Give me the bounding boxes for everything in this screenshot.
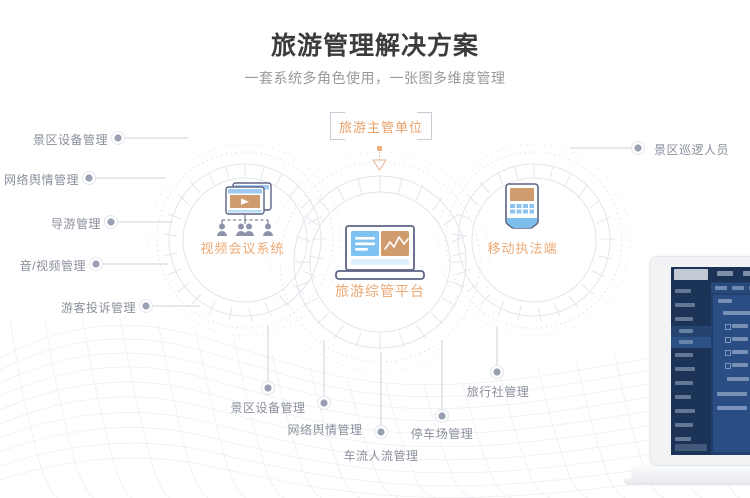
dashboard-checkbox-icon bbox=[725, 363, 731, 369]
dashboard-sidebar bbox=[671, 282, 711, 455]
laptop-screen bbox=[671, 267, 750, 455]
dashboard-tree-row bbox=[732, 337, 748, 341]
laptop-base-edge bbox=[624, 478, 750, 485]
dashboard-sidebar-item bbox=[675, 317, 693, 321]
label-audio-video-management[interactable]: 音/视频管理 bbox=[0, 257, 86, 274]
dashboard-tree-panel bbox=[713, 295, 750, 452]
dashboard-logo bbox=[674, 269, 708, 280]
dashboard-checkbox-icon bbox=[725, 350, 731, 356]
dashboard-sidebar-item bbox=[679, 340, 693, 344]
laptop-lid bbox=[650, 256, 750, 466]
dashboard-filter-chip bbox=[715, 286, 727, 290]
label-bottom-scenic-device-management[interactable]: 景区设备管理 bbox=[208, 399, 328, 416]
dashboard-checkbox-icon bbox=[725, 324, 731, 330]
dashboard-tree-row bbox=[717, 406, 747, 410]
label-traffic-flow-management[interactable]: 车流人流管理 bbox=[321, 447, 441, 464]
dashboard-tree-row bbox=[718, 299, 732, 303]
dashboard-nav-item bbox=[743, 271, 750, 276]
dashboard-sidebar-item bbox=[679, 329, 693, 333]
dashboard-sidebar-footer bbox=[675, 444, 707, 451]
corner-bracket-icon bbox=[330, 125, 345, 140]
dashboard-sidebar-item bbox=[675, 423, 693, 427]
authority-label: 旅游主管单位 bbox=[339, 117, 423, 136]
label-travel-agency-management[interactable]: 旅行社管理 bbox=[445, 383, 551, 400]
dashboard-tree-row bbox=[732, 363, 748, 367]
dashboard-tree-row bbox=[732, 350, 748, 354]
dashboard-sidebar-item bbox=[675, 395, 691, 399]
label-network-opinion-management[interactable]: 网络舆情管理 bbox=[0, 171, 79, 188]
dashboard-sidebar-item bbox=[675, 367, 695, 371]
dashboard-sidebar-item bbox=[675, 289, 691, 293]
label-scenic-device-management[interactable]: 景区设备管理 bbox=[0, 131, 108, 148]
dashboard-sidebar-item bbox=[675, 409, 695, 413]
dashboard-sidebar-item bbox=[675, 437, 691, 441]
video-conference-icon[interactable] bbox=[208, 180, 282, 243]
label-tourist-complaint-management[interactable]: 游客投诉管理 bbox=[0, 299, 136, 316]
dashboard-filter-chip bbox=[732, 286, 744, 290]
label-parking-management[interactable]: 停车场管理 bbox=[389, 425, 495, 442]
mobile-enforcement-icon[interactable] bbox=[496, 180, 548, 243]
dashboard-nav-item bbox=[717, 271, 733, 276]
poster-canvas: 旅游管理解决方案 一套系统多角色使用，一张图多维度管理 bbox=[0, 0, 750, 498]
platform-caption: 旅游综管平台 bbox=[310, 281, 450, 301]
video-conference-caption: 视频会议系统 bbox=[175, 238, 310, 257]
dashboard-checkbox-icon bbox=[725, 337, 731, 343]
corner-bracket-icon bbox=[417, 125, 432, 140]
dashboard-mock bbox=[671, 267, 750, 455]
label-bottom-network-opinion-management[interactable]: 网络舆情管理 bbox=[265, 421, 385, 438]
dashboard-sidebar-item bbox=[675, 381, 693, 385]
admin-dashboard-preview bbox=[640, 256, 750, 498]
mobile-enforcement-caption: 移动执法端 bbox=[455, 238, 590, 257]
dashboard-tree-row bbox=[732, 324, 748, 328]
label-tour-guide-management[interactable]: 导游管理 bbox=[0, 215, 101, 232]
dashboard-sidebar-item bbox=[675, 353, 693, 357]
dashboard-sidebar-item bbox=[675, 303, 695, 307]
page-title: 旅游管理解决方案 bbox=[0, 26, 750, 62]
dashboard-tree-row bbox=[723, 311, 750, 315]
label-scenic-patrol-staff[interactable]: 景区巡逻人员 bbox=[654, 141, 729, 158]
page-subtitle: 一套系统多角色使用，一张图多维度管理 bbox=[0, 68, 750, 88]
authority-box[interactable]: 旅游主管单位 bbox=[330, 112, 432, 140]
dashboard-tree-row bbox=[717, 392, 747, 396]
dashboard-tree-row bbox=[727, 377, 749, 381]
